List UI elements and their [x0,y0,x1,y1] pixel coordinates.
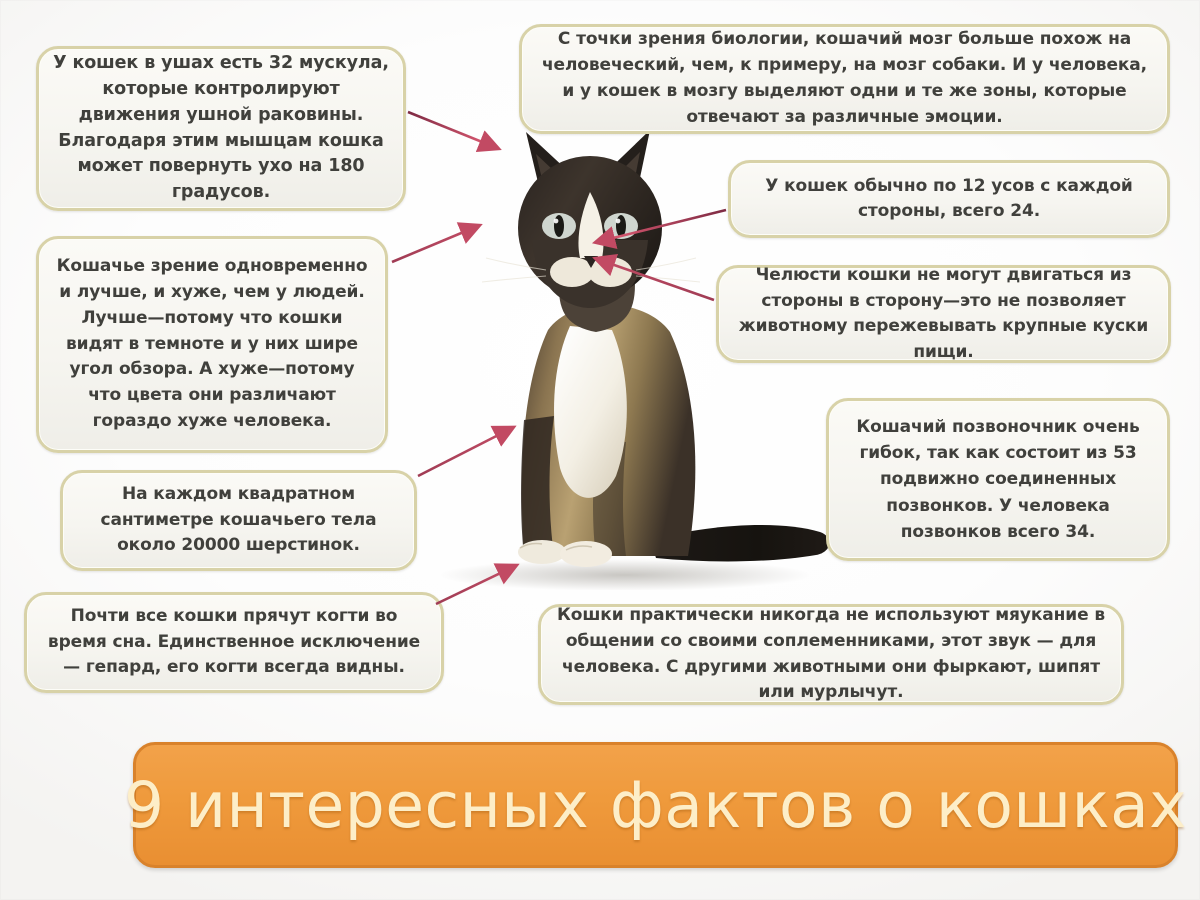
infographic-canvas: У кошек в ушах есть 32 мускула, которые … [0,0,1200,900]
title-banner: 9 интересных фактов о кошках [133,742,1178,868]
arrow-vision [392,226,478,262]
arrow-jaws [597,259,714,300]
arrow-whiskers [597,210,726,242]
arrow-claws [436,566,515,604]
arrow-ears [408,112,497,148]
banner-title-text: 9 интересных фактов о кошках [124,774,1187,837]
arrow-fur [418,428,512,476]
